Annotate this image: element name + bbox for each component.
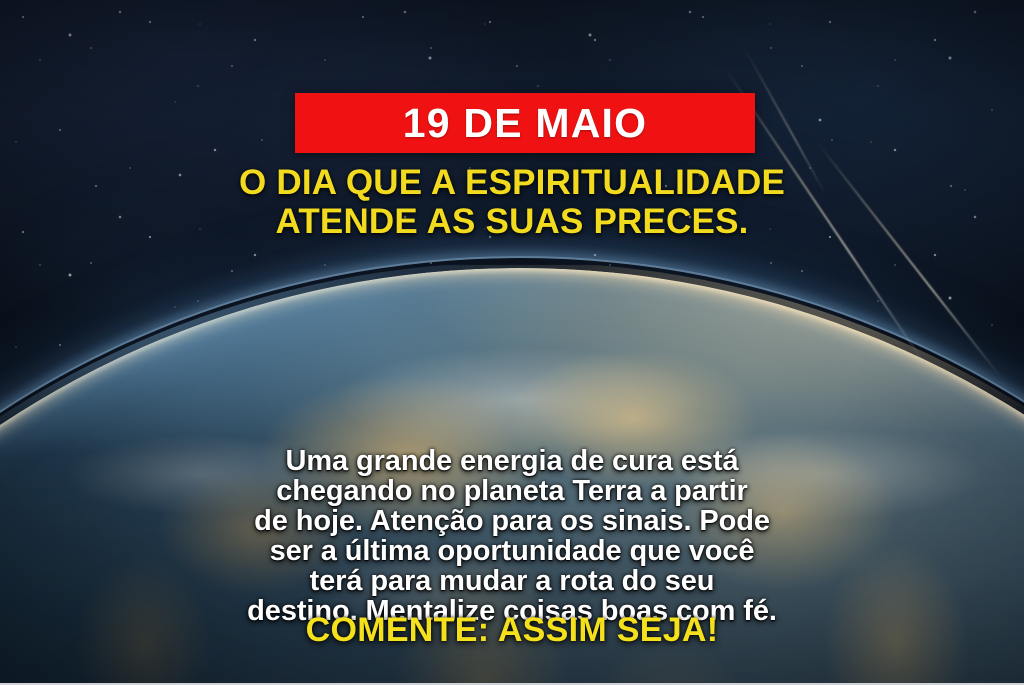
headline-line-1: O DIA QUE A ESPIRITUALIDADE	[52, 163, 972, 202]
poster-content: 19 DE MAIO O DIA QUE A ESPIRITUALIDADE A…	[0, 0, 1024, 685]
body-paragraph: Uma grande energia de cura está chegando…	[0, 446, 1024, 626]
page-title: O DIA QUE A ESPIRITUALIDADE ATENDE AS SU…	[0, 163, 1024, 241]
date-banner-label: 19 DE MAIO	[403, 103, 647, 144]
body-line-1: Uma grande energia de cura está	[48, 446, 976, 476]
date-banner: 19 DE MAIO	[295, 93, 755, 153]
body-line-5: terá para mudar a rota do seu	[48, 566, 976, 596]
body-line-2: chegando no planeta Terra a partir	[48, 476, 976, 506]
body-line-3: de hoje. Atenção para os sinais. Pode	[48, 506, 976, 536]
headline-line-2: ATENDE AS SUAS PRECES.	[52, 202, 972, 241]
body-line-4: ser a última oportunidade que você	[48, 536, 976, 566]
call-to-action-text: COMENTE: ASSIM SEJA!	[0, 612, 1024, 649]
